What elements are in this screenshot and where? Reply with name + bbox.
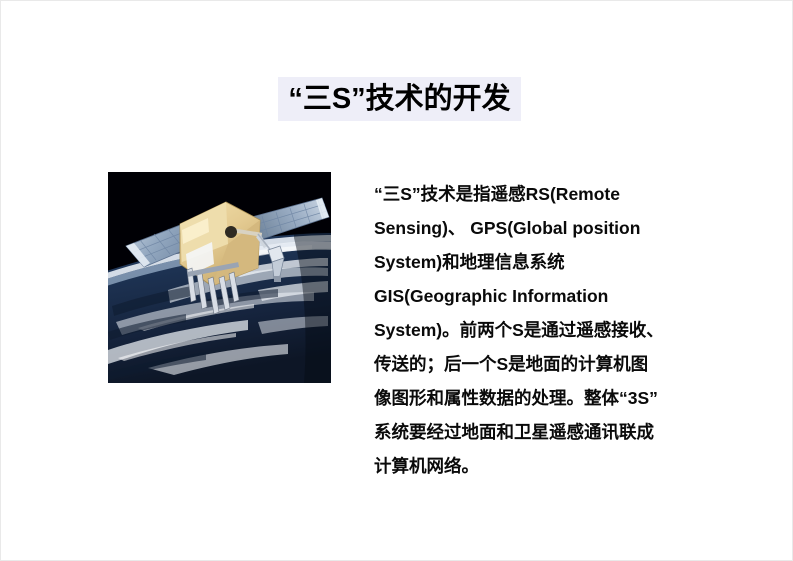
body-line: Sensing)、 GPS(Global position (374, 211, 704, 245)
body-line: “三S”技术是指遥感RS(Remote (374, 177, 704, 211)
body-line: GIS(Geographic Information (374, 279, 704, 313)
body-line: 系统要经过地面和卫星遥感通讯联成 (374, 415, 704, 449)
page-title: “三S”技术的开发 (288, 85, 510, 114)
satellite-image (108, 172, 331, 383)
body-line: 像图形和属性数据的处理。整体“3S” (374, 381, 704, 415)
slide-canvas: “三S”技术的开发 (0, 0, 793, 561)
body-line: System)。前两个S是通过遥感接收、 (374, 313, 704, 347)
satellite-illustration (108, 172, 331, 383)
slide-title-highlight: “三S”技术的开发 (278, 77, 521, 121)
body-line: System)和地理信息系统 (374, 245, 704, 279)
body-line: 计算机网络。 (374, 449, 704, 483)
body-line: 传送的；后一个S是地面的计算机图 (374, 347, 704, 381)
body-paragraph: “三S”技术是指遥感RS(Remote Sensing)、 GPS(Global… (374, 177, 704, 483)
